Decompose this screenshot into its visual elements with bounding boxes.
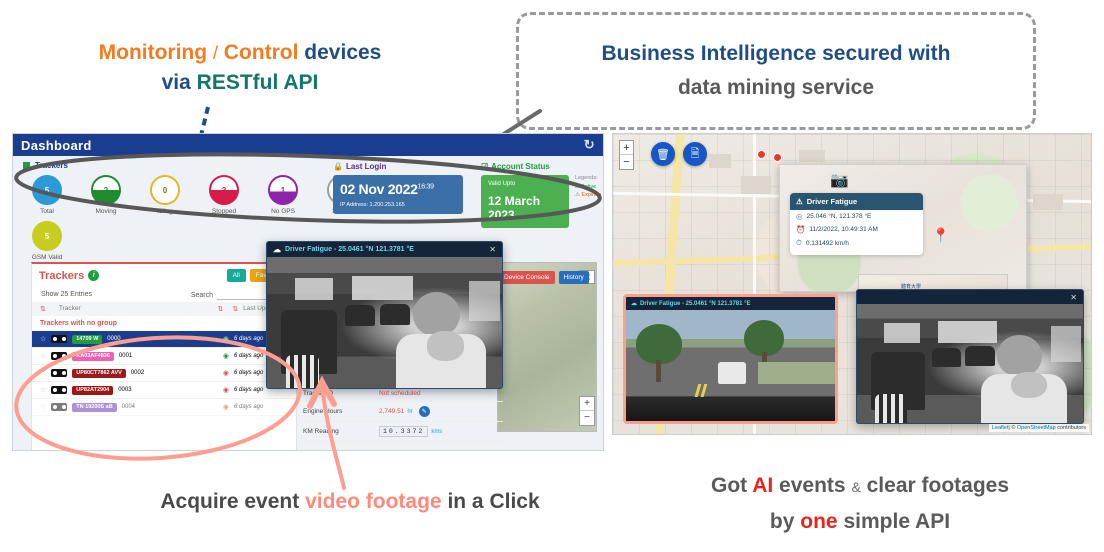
tracker-plate: UP82AT2904 (72, 386, 113, 395)
device-console-button[interactable]: Device Console (499, 271, 555, 284)
donut-circle: 1 (268, 175, 298, 205)
map-pin-icon: 📍 (932, 227, 949, 244)
donut-label: Stopped (204, 208, 244, 215)
legend-title: Legends: (575, 175, 601, 181)
table-row[interactable]: ☆ TN 19200S aB 0004 ◉ 6 days ago (32, 399, 296, 416)
device-action-buttons: Device Console History (499, 271, 589, 284)
donut-circle: 0 (150, 175, 180, 205)
video-popup-titlebar: ☁ Driver Fatigue - 25.0461 °N 121.3781 °… (267, 242, 502, 257)
caption-by: by (770, 510, 795, 533)
show-count-select[interactable]: 25 (60, 291, 68, 298)
donut-no-gps[interactable]: 1 No GPS (263, 175, 303, 215)
cloud-icon: ☁ (631, 300, 637, 307)
donut-value: 1 (281, 186, 285, 195)
zoom-in-button[interactable]: + (580, 397, 594, 411)
last-login-heading: 🔒 Last Login (333, 162, 463, 171)
table-row[interactable]: ☆ UP82AT2904 0003 ◉ 6 days ago (32, 382, 296, 399)
table-row[interactable]: ☆ 14709 W 0000 ◉ 6 days ago (32, 331, 296, 348)
detail-value: 10.3372 (379, 426, 428, 437)
status-icon: ◉ (223, 369, 229, 377)
location-icon: ◎ (796, 212, 803, 221)
donut-circle: 5 (32, 175, 62, 205)
lock-icon: 🔒 (333, 162, 343, 171)
road-video-title: Driver Fatigue - 25.0461 °N 121.3781 °E (640, 301, 751, 307)
detail-key: Tracker ID (303, 390, 379, 397)
caption-events: events (779, 474, 846, 497)
camera-icon: 📷 (830, 171, 849, 189)
headline-left-line2: via RESTful API (60, 68, 420, 98)
donut-circle: 2 (91, 175, 121, 205)
tracker-plate: UP80CT7862 AVV (72, 369, 126, 378)
driver-fatigue-video-popup[interactable]: ☁ Driver Fatigue - 25.0461 °N 121.3781 °… (266, 241, 503, 389)
donut-moving[interactable]: 2 Moving (86, 175, 126, 215)
trackers-panel: Trackers i All Favourite Show 25 Entries… (31, 262, 297, 451)
driver-fatigue-title-bar: ⚠ Driver Fatigue (790, 193, 923, 210)
all-button[interactable]: All (227, 269, 246, 282)
headrest (380, 304, 411, 325)
caption-got: Got (711, 474, 747, 497)
map-block (1033, 194, 1063, 210)
donut-total[interactable]: 5 Total (27, 175, 67, 215)
last-login-heading-label: Last Login (346, 162, 386, 171)
last-login-panel: 🔒 Last Login 02 Nov 202216:39 IP Address… (333, 162, 463, 214)
last-login-date-row: 02 Nov 202216:39 (340, 181, 456, 197)
tracker-plate: 14709 W (72, 335, 102, 344)
headrest (345, 305, 376, 326)
app-title: Dashboard (21, 138, 92, 153)
caption-left-highlight: video footage (305, 490, 442, 513)
col-tracker[interactable]: Tracker (59, 305, 81, 313)
map-block (709, 154, 731, 168)
detail-value: 2,749.51 (379, 408, 404, 415)
striped-cushion (875, 394, 907, 424)
cabin-video-titlebar: ✕ (857, 290, 1083, 304)
donut-circle: 2 (209, 175, 239, 205)
donut-value: 5 (45, 232, 49, 241)
tracker-detail-list: Tracker ID Not scheduled Engine Hours 2,… (303, 386, 503, 442)
account-status-card: Valid Upto 12 March 2023 (481, 175, 569, 228)
trackers-panel-header: Trackers i All Favourite (32, 264, 296, 287)
car-hood (626, 397, 835, 421)
history-button[interactable]: History (559, 271, 589, 284)
driver-hand (1011, 372, 1047, 399)
headline-slash: / (213, 43, 218, 63)
zoom-out-button[interactable]: − (620, 155, 633, 169)
speed-icon: ⏱ (796, 238, 802, 248)
account-status-heading-label: Account Status (491, 162, 550, 171)
window-glare (884, 323, 920, 342)
driver-hand (427, 331, 465, 360)
edit-icon[interactable]: ✎ (419, 406, 430, 417)
report-icon[interactable]: 🗎 (683, 142, 707, 166)
caption-right: Got AI events & clear footages by one si… (630, 468, 1090, 539)
tracker-id: 0001 (119, 353, 132, 359)
app-titlebar: Dashboard ↻ (13, 134, 603, 156)
status-icon: ◉ (223, 403, 229, 411)
detail-row: Engine Hours 2,749.51 hr ✎ (303, 402, 503, 422)
headline-left-line1: Monitoring / Control devices (60, 38, 420, 68)
detail-row: KM Reading 10.3372 kms (303, 422, 503, 442)
vehicle-icon (51, 335, 67, 343)
detail-key: KM Reading (303, 428, 379, 435)
headline-restful-api: RESTful API (197, 71, 319, 94)
donut-label: Idling (145, 208, 185, 215)
caption-ampersand: & (851, 479, 860, 495)
account-status-heading: ☑ Account Status (481, 162, 604, 171)
detail-value: Not scheduled (379, 390, 421, 397)
cabin-video-frame (857, 304, 1083, 424)
attr-sep: | © (1008, 425, 1017, 431)
search-label: Search (191, 292, 213, 299)
cabin-video-popup-right[interactable]: ✕ (856, 289, 1084, 424)
info-icon[interactable]: i (88, 270, 99, 281)
tracker-plate: TN 19200S aB (72, 403, 116, 412)
road-video-frame (626, 310, 835, 421)
warning-icon: ⚠ (575, 192, 580, 198)
osm-link[interactable]: OpenStreetMap (1017, 425, 1056, 431)
road-video-titlebar: ☁ Driver Fatigue - 25.0461 °N 121.3781 °… (626, 297, 835, 310)
leaflet-attribution[interactable]: Leaflet| © OpenStreetMap contributors (989, 424, 1089, 432)
last-login-ip: IP Address: 1.200.253.165 (340, 202, 456, 208)
video-popup-title-group: ☁ Driver Fatigue - 25.0461 °N 121.3781 °… (273, 245, 414, 254)
vehicle-icon (51, 369, 67, 377)
caption-left-a: Acquire event (160, 490, 299, 513)
clock-icon: ⏰ (796, 225, 805, 234)
detail-key: Engine Hours (303, 408, 379, 415)
headline-left: Monitoring / Control devices via RESTful… (60, 38, 420, 99)
donut-circle: 5 (32, 221, 62, 251)
sort-icon[interactable]: ⇅ (217, 305, 222, 313)
trackers-strip-label: Trackers (35, 161, 68, 170)
vehicle-icon (51, 403, 67, 411)
status-icon: ◉ (223, 335, 229, 343)
tree (744, 320, 784, 356)
donut-gsm-valid: 5 GSM Valid (27, 221, 67, 261)
driver-fatigue-speed-row: ⏱ 0.131492 km/h (790, 236, 923, 250)
last-login-date: 02 Nov 2022 (340, 181, 418, 197)
donut-value: 5 (45, 186, 49, 195)
cloud-icon: ☁ (273, 245, 281, 254)
map-zoom-control[interactable]: + − (579, 396, 595, 426)
zoom-in-button[interactable]: + (620, 141, 633, 155)
donut-label: No GPS (263, 208, 303, 215)
favourite-star-icon[interactable]: ☆ (40, 386, 46, 394)
check-square-icon: ☑ (481, 162, 488, 171)
trackers-panel-title: Trackers (39, 270, 84, 282)
tree (636, 324, 682, 364)
donut-value: 2 (104, 186, 108, 195)
map-block (741, 176, 771, 194)
driver-fatigue-timestamp: 11/2/2022, 10:49:31 AM (809, 226, 878, 233)
detail-unit: kms (431, 429, 442, 435)
show-label: Show (41, 291, 59, 298)
tracker-group-row[interactable]: Trackers with no group (32, 316, 296, 331)
favourite-star-icon[interactable]: ☆ (40, 335, 46, 343)
refresh-icon[interactable]: ↻ (584, 137, 595, 153)
headline-right-box: Business Intelligence secured with data … (516, 12, 1036, 130)
headline-control: Control (224, 41, 299, 64)
account-status-panel: ☑ Account Status Valid Upto 12 March 202… (481, 162, 604, 228)
window-glare (1051, 326, 1080, 362)
detail-unit: hr (407, 409, 412, 415)
striped-cushion (286, 355, 319, 389)
trackers-table-controls: Show 25 Entries Search (32, 287, 296, 302)
donut-idling[interactable]: 0 Idling (145, 175, 185, 215)
driver-fatigue-info-popup[interactable]: 📷 📍 ⚠ Driver Fatigue ◎ 25.046 °N, 121.37… (779, 164, 1027, 292)
caption-simple-api: simple API (843, 510, 950, 533)
headline-data-mining: data mining service (678, 71, 874, 105)
check-icon: ☑ (575, 184, 580, 190)
vehicle-icon (51, 352, 67, 360)
trackers-table-header: ⇅ Tracker ⇅ ⇅ Last Update ⇅ (32, 302, 296, 316)
status-icon: ◉ (223, 386, 229, 394)
event-marker[interactable] (757, 150, 766, 159)
close-icon[interactable]: ✕ (1070, 293, 1077, 302)
valid-upto-date: 12 March 2023 (488, 194, 562, 222)
caption-clear-footages: clear footages (867, 474, 1009, 497)
car-ahead (718, 362, 746, 384)
donut-stopped[interactable]: 2 Stopped (204, 175, 244, 215)
driver-fatigue-title: Driver Fatigue (807, 197, 857, 206)
caption-one: one (800, 510, 837, 533)
favourite-star-icon[interactable]: ☆ (40, 352, 46, 360)
favourite-star-icon[interactable]: ☆ (40, 403, 46, 411)
donut-label: Moving (86, 208, 126, 215)
show-entries-group[interactable]: Show 25 Entries (41, 291, 92, 300)
tracker-group-label: Trackers with no group (40, 320, 117, 327)
favourite-star-icon[interactable]: ☆ (40, 369, 46, 377)
close-icon[interactable]: ✕ (489, 245, 496, 254)
zoom-out-button[interactable]: − (580, 411, 594, 425)
headline-monitoring: Monitoring (99, 41, 207, 64)
legend-expiring: ⚠ Expiring (575, 192, 601, 198)
table-row[interactable]: ☆ UP80CT7862 AVV 0002 ◉ 6 days ago (32, 365, 296, 382)
road-video-title-group: ☁ Driver Fatigue - 25.0461 °N 121.3781 °… (631, 300, 751, 307)
driver-fatigue-card: ⚠ Driver Fatigue ◎ 25.046 °N, 121.378 °E… (790, 193, 923, 255)
headline-business-intelligence: Business Intelligence secured with (602, 37, 951, 71)
last-login-card: 02 Nov 202216:39 IP Address: 1.200.253.1… (333, 175, 463, 214)
valid-upto-label: Valid Upto (488, 181, 562, 187)
entries-label: Entries (70, 291, 92, 298)
alert-icon: ⚠ (796, 197, 803, 206)
legend-expiring-label: Expiring (581, 192, 601, 198)
window-glare (938, 321, 997, 343)
legend-active-label: Active (581, 184, 596, 190)
tree-trunk (656, 360, 661, 382)
sort-icon[interactable]: ⇅ (232, 305, 237, 313)
driver-head (413, 292, 460, 337)
sort-icon[interactable]: ⇅ (40, 305, 45, 313)
status-icon: ◉ (223, 352, 229, 360)
legend-active: ☑ Active (575, 184, 601, 190)
tracker-id: 0000 (107, 336, 120, 342)
driver-fatigue-coords: 25.046 °N, 121.378 °E (807, 213, 872, 220)
last-login-time: 16:39 (418, 183, 434, 190)
attr-tail: contributors (1056, 425, 1086, 431)
caption-left-c: in a Click (447, 490, 539, 513)
donut-value: 0 (163, 186, 167, 195)
road-video-popup[interactable]: ☁ Driver Fatigue - 25.0461 °N 121.3781 °… (623, 294, 838, 424)
tracker-id: 0003 (118, 387, 131, 393)
window-glare (352, 276, 413, 300)
tracker-id: 0004 (122, 404, 135, 410)
roadside-wall (758, 362, 838, 384)
vehicle-icon (51, 386, 67, 394)
caption-ai: AI (752, 474, 773, 497)
caption-right-line1: Got AI events & clear footages (630, 468, 1090, 504)
headrest (932, 348, 961, 367)
caption-left: Acquire event video footage in a Click (110, 490, 590, 514)
headline-via: via (162, 71, 191, 94)
donut-value: 2 (222, 186, 226, 195)
tracker-id: 0002 (131, 370, 144, 376)
window-glare (469, 281, 500, 321)
map-zoom-control[interactable]: + − (619, 140, 634, 170)
driver-head (997, 335, 1042, 376)
donut-label: GSM Valid (27, 254, 67, 261)
leaflet-link[interactable]: Leaflet (992, 425, 1009, 431)
cabin-video-frame (267, 257, 502, 389)
trackers-panel-title-group: Trackers i (39, 270, 99, 282)
map-block (799, 150, 825, 162)
tracker-plate: KA03AF4836 (72, 352, 114, 361)
window-glare (295, 278, 333, 299)
green-square-icon (23, 162, 30, 169)
driver-fatigue-time-row: ⏰ 11/2/2022, 10:49:31 AM (790, 223, 923, 236)
table-row[interactable]: ☆ KA03AF4836 0001 ◉ 6 days ago (32, 348, 296, 365)
event-marker[interactable] (773, 153, 782, 162)
map-app-screenshot: + − 🗑 🗎 📷 📍 ⚠ Driver Fatigue ◎ 25.046 °N… (612, 133, 1092, 435)
video-popup-title: Driver Fatigue - 25.0461 °N 121.3781 °E (285, 246, 414, 253)
donut-label: Total (27, 208, 67, 215)
trash-icon[interactable]: 🗑 (651, 142, 675, 166)
driver-fatigue-coords-row: ◎ 25.046 °N, 121.378 °E (790, 210, 923, 223)
account-status-legend: Legends: ☑ Active ⚠ Expiring (575, 175, 601, 200)
tracker-last-update: 6 days ago (234, 404, 288, 410)
caption-right-line2: by one simple API (630, 504, 1090, 540)
driver-fatigue-speed: 0.131492 km/h (806, 240, 849, 247)
headrest (965, 346, 994, 365)
headline-devices: devices (304, 41, 381, 64)
